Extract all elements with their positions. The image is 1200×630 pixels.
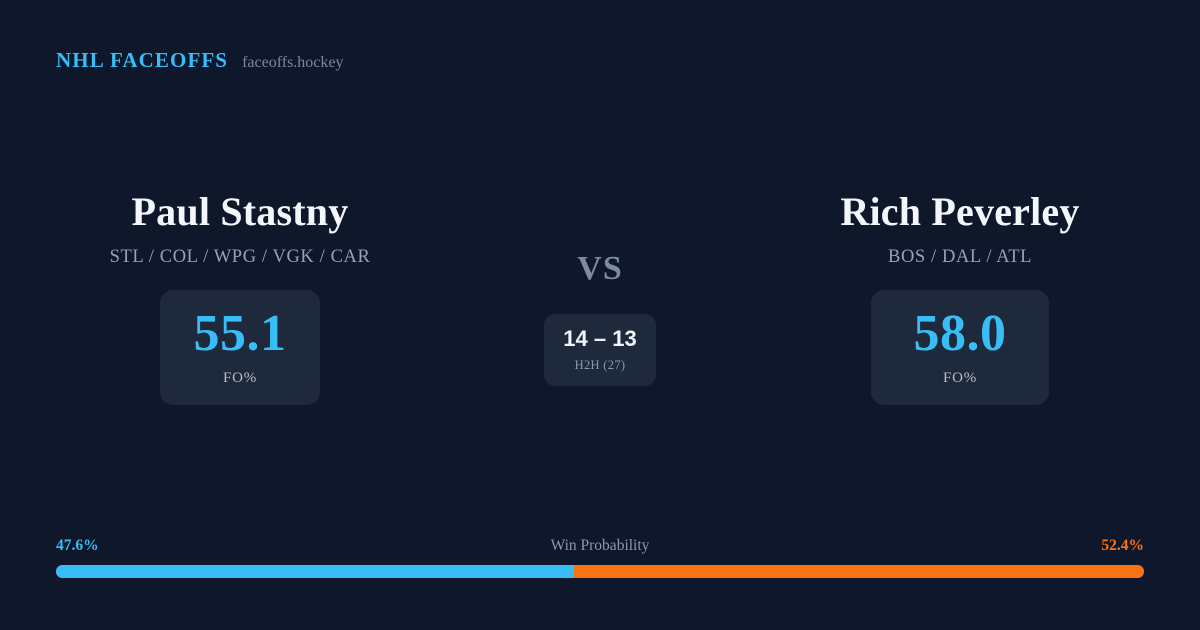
versus-block: VS 14 – 13 H2H (27) [480,190,720,386]
head-to-head-record: 14 – 13 [563,328,636,350]
win-probability-title: Win Probability [551,536,650,556]
player-left-name: Paul Stastny [132,190,349,234]
player-right: Rich Peverley BOS / DAL / ATL 58.0 FO% [720,190,1200,405]
win-probability-right-value: 52.4% [1101,536,1144,556]
win-probability-bar [56,565,1144,578]
player-left-teams: STL / COL / WPG / VGK / CAR [110,247,371,268]
player-right-stat-card: 58.0 FO% [871,290,1049,405]
win-probability-left-fill [56,565,574,578]
player-left-stat-card: 55.1 FO% [160,290,320,405]
head-to-head-caption: H2H (27) [575,358,626,373]
win-probability-right-fill [574,565,1144,578]
player-right-stat-label: FO% [943,370,977,387]
player-left-stat-label: FO% [223,370,257,387]
versus-label: VS [577,252,622,286]
player-left: Paul Stastny STL / COL / WPG / VGK / CAR… [0,190,480,405]
player-left-stat-value: 55.1 [194,308,287,360]
win-probability-section: 47.6% Win Probability 52.4% [56,536,1144,578]
brand-domain: faceoffs.hockey [242,54,343,72]
win-probability-labels: 47.6% Win Probability 52.4% [56,536,1144,556]
head-to-head-chip: 14 – 13 H2H (27) [544,314,656,386]
matchup-row: Paul Stastny STL / COL / WPG / VGK / CAR… [0,190,1200,405]
player-right-teams: BOS / DAL / ATL [888,247,1032,268]
player-right-stat-value: 58.0 [914,308,1007,360]
player-right-name: Rich Peverley [840,190,1079,234]
win-probability-left-value: 47.6% [56,536,99,556]
share-card: NHL FACEOFFS faceoffs.hockey Paul Stastn… [0,0,1200,630]
brand-title: NHL FACEOFFS [56,48,228,73]
brand-header: NHL FACEOFFS faceoffs.hockey [56,48,344,73]
